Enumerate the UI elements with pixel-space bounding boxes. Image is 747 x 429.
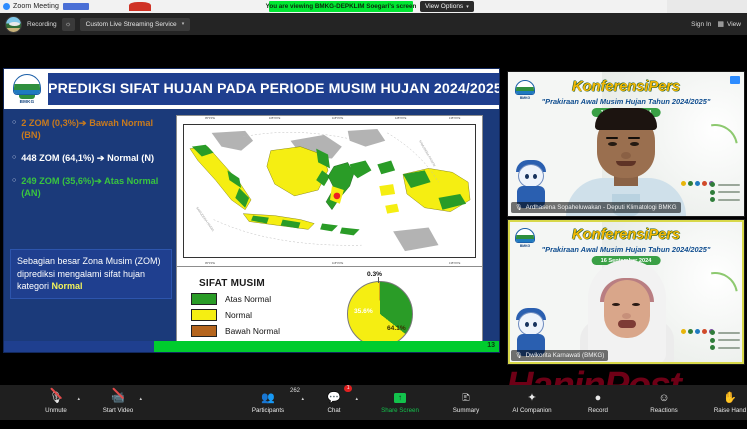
slide-header: BMKG PREDIKSI SIFAT HUJAN PADA PERIODE M… [4, 69, 500, 109]
tile-menu-button[interactable] [730, 76, 740, 84]
share-screen-label: Share Screen [381, 407, 419, 414]
summary-highlight: Normal [52, 281, 83, 291]
ai-companion-label: AI Companion [512, 407, 551, 414]
hand-icon: ✋ [723, 392, 737, 405]
chevron-down-icon: ▾ [466, 4, 469, 10]
legend-label: Bawah Normal [225, 326, 280, 336]
mic-muted-icon: 🎙 [515, 204, 523, 211]
slide-footer: 13 [4, 341, 500, 352]
view-button[interactable]: ▦ View [717, 20, 741, 28]
chat-unread-badge: 1 [344, 385, 352, 392]
legend-item: Atas Normal [191, 293, 280, 305]
titlebar-decoration [63, 3, 89, 10]
share-screen-button[interactable]: ↑ Share Screen [380, 385, 420, 420]
bullet-value: 2 ZOM (0,3%) [21, 118, 79, 128]
reactions-label: Reactions [650, 407, 678, 414]
indonesia-rainfall-map: SAMUDERA HINDIA SAMUDERA PASIFIK [183, 124, 476, 258]
chevron-up-icon[interactable]: ▴ [355, 396, 358, 402]
legend-label: Normal [225, 310, 252, 320]
arrow-icon: ➔ [97, 153, 105, 163]
chart-title: SIFAT MUSIM [199, 278, 265, 289]
record-label: Record [588, 407, 608, 414]
chart-legend: Atas Normal Normal Bawah Normal [191, 293, 280, 341]
start-video-button[interactable]: 📹 Start Video ▴ [98, 385, 138, 420]
press-conference-subtitle: "Prakiraan Awal Musim Hujan Tahun 2024/2… [508, 97, 744, 106]
decorative-badges [710, 330, 740, 350]
legend-swatch-normal [191, 309, 217, 321]
view-options-label: View Options [425, 3, 463, 10]
summary-label: Summary [453, 407, 479, 414]
arrow-icon: ➔ [94, 176, 102, 186]
map-lon-tick: 135°0'0"E [449, 262, 460, 265]
map-lon-tick: 115°0'0"E [332, 117, 343, 120]
map-lon-tick: 125°0'0"E [395, 117, 406, 120]
legend-item: Bawah Normal [191, 325, 280, 337]
sign-in-button[interactable]: Sign In [691, 21, 711, 28]
press-conference-title: KonferensiPers [508, 78, 744, 95]
speaker-1-portrait [566, 112, 686, 216]
titlebar-decoration-2 [129, 2, 151, 11]
emoji-icon: ☺ [658, 392, 669, 405]
legend-label: Atas Normal [225, 294, 271, 304]
legend-swatch-atas-normal [191, 293, 217, 305]
chat-label: Chat [327, 407, 340, 414]
press-conference-subtitle: "Prakiraan Awal Musim Hujan Tahun 2024/2… [508, 245, 744, 254]
people-icon: 👥 [261, 392, 275, 405]
record-button[interactable]: ● Record [578, 385, 618, 420]
decorative-badges [710, 182, 740, 202]
grid-icon: ▦ [717, 20, 724, 28]
recording-label: Recording [27, 21, 57, 28]
pie-label-normal: 64.1% [387, 325, 406, 332]
list-item: ○ 249 ZOM (35,6%)➔ Atas Normal (AN) [12, 175, 172, 199]
viewing-screen-banner: You are viewing BMKG-DEPKLIM Soegari's s… [269, 1, 413, 12]
chevron-up-icon[interactable]: ▴ [77, 396, 80, 402]
legend-swatch-bawah-normal [191, 325, 217, 337]
unmute-button[interactable]: 🎙 Unmute ▴ [36, 385, 76, 420]
sign-in-label: Sign In [691, 21, 711, 28]
chevron-up-icon[interactable]: ▴ [301, 396, 304, 402]
slide-summary-box: Sebagian besar Zona Musim (ZOM) dipredik… [10, 249, 172, 299]
meeting-stage: BMKG PREDIKSI SIFAT HUJAN PADA PERIODE M… [0, 35, 747, 385]
pie-label-atas-normal: 35.6% [354, 308, 373, 315]
map-lon-tick: 95°0'0"E [205, 117, 215, 120]
window-title: Zoom Meeting [13, 3, 59, 10]
participant-name: Dwikorita Karnawati (BMKG) [526, 352, 605, 359]
live-streaming-dropdown[interactable]: Custom Live Streaming Service ▾ [80, 18, 191, 31]
participants-label: Participants [252, 407, 284, 414]
view-options-button[interactable]: View Options ▾ [420, 1, 474, 12]
shared-screen-slide[interactable]: BMKG PREDIKSI SIFAT HUJAN PADA PERIODE M… [3, 68, 500, 353]
ai-companion-button[interactable]: ✦ AI Companion [512, 385, 552, 420]
slide-title-bar: PREDIKSI SIFAT HUJAN PADA PERIODE MUSIM … [48, 73, 500, 105]
map-svg: SAMUDERA HINDIA SAMUDERA PASIFIK [184, 125, 475, 257]
arrow-icon: ➔ [79, 118, 87, 128]
map-panel: SAMUDERA HINDIA SAMUDERA PASIFIK 95°0'0"… [176, 115, 483, 267]
map-lon-tick: 95°0'0"E [205, 262, 215, 265]
participants-count: 262 [290, 388, 300, 394]
bmkg-logo-text: BMKG [10, 99, 44, 104]
bullet-marker: ○ [12, 152, 16, 164]
slide-page-number: 13 [487, 342, 495, 349]
bullet-marker: ○ [12, 175, 16, 187]
bullet-value: 448 ZOM (64,1%) [21, 153, 94, 163]
participant-name: Ardhasena Sopaheluwakan - Deputi Klimato… [526, 204, 677, 211]
footer-accent [4, 341, 154, 352]
chevron-down-icon: ▾ [182, 21, 185, 27]
participant-name-tag: 🎙 Dwikorita Karnawati (BMKG) [511, 350, 608, 361]
list-item: ○ 448 ZOM (64,1%) ➔ Normal (N) [12, 152, 172, 164]
unmute-label: Unmute [45, 407, 67, 414]
chat-button[interactable]: 💬 1 Chat ▴ [314, 385, 354, 420]
map-lon-tick: 135°0'0"E [449, 117, 460, 120]
list-item: ○ 2 ZOM (0,3%)➔ Bawah Normal (BN) [12, 117, 172, 141]
broadcast-icon[interactable]: ☼ [62, 18, 75, 31]
participant-name-tag: 🎙 Ardhasena Sopaheluwakan - Deputi Klima… [511, 202, 681, 213]
slide-bullet-list: ○ 2 ZOM (0,3%)➔ Bawah Normal (BN) ○ 448 … [12, 117, 172, 210]
summary-button[interactable]: 🗈 Summary [446, 385, 486, 420]
video-tile-speaker-1[interactable]: BMKG KonferensiPers "Prakiraan Awal Musi… [507, 71, 745, 217]
sparkle-icon: ✦ [527, 392, 536, 405]
participants-button[interactable]: 👥 262 Participants ▴ [248, 385, 288, 420]
record-circle-icon: ● [595, 392, 602, 405]
zoom-logo-icon [3, 3, 10, 10]
recording-subbar: Recording ☼ Custom Live Streaming Servic… [0, 13, 747, 35]
bullet-value: 249 ZOM (35,6%) [21, 176, 94, 186]
press-conference-title: KonferensiPers [508, 226, 744, 243]
pie-label-bawah-normal: 0.3% [367, 271, 382, 278]
chevron-up-icon[interactable]: ▴ [139, 396, 142, 402]
map-lon-tick: 115°0'0"E [332, 262, 343, 265]
legend-item: Normal [191, 309, 280, 321]
document-icon: 🗈 [462, 392, 470, 405]
view-label: View [727, 21, 741, 28]
titlebar-right-region [667, 0, 747, 13]
live-streaming-label: Custom Live Streaming Service [86, 21, 177, 28]
raise-hand-button[interactable]: ✋ Raise Hand [710, 385, 747, 420]
raise-hand-label: Raise Hand [714, 407, 746, 414]
mic-icon: 🎙 [515, 352, 523, 359]
page-title: PREDIKSI SIFAT HUJAN PADA PERIODE MUSIM … [48, 81, 500, 97]
share-screen-icon: ↑ [394, 392, 406, 405]
video-tile-speaker-2[interactable]: BMKG KonferensiPers "Prakiraan Awal Musi… [507, 219, 745, 365]
chat-bubble-icon: 💬 [327, 392, 341, 405]
start-video-label: Start Video [103, 407, 134, 414]
host-avatar [5, 16, 22, 33]
meeting-toolbar: 🎙 Unmute ▴ 📹 Start Video ▴ 👥 262 Partici… [0, 385, 747, 420]
summary-text: Sebagian besar Zona Musim (ZOM) dipredik… [17, 256, 161, 291]
speaker-2-portrait [566, 260, 686, 364]
bullet-label: Normal (N) [107, 153, 154, 163]
bullet-marker: ○ [12, 117, 16, 129]
map-lon-tick: 105°0'0"E [269, 117, 280, 120]
bmkg-logo-icon: BMKG [10, 72, 44, 106]
reactions-button[interactable]: ☺ Reactions [644, 385, 684, 420]
